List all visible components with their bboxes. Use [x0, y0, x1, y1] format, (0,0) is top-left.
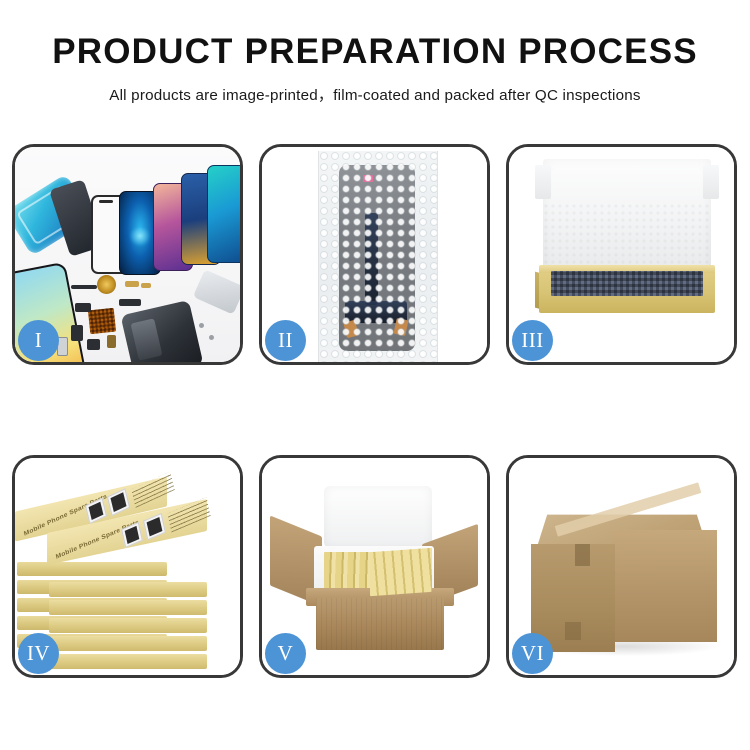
step-panel-3[interactable]: III	[506, 144, 737, 365]
step-badge-2: II	[265, 320, 306, 361]
box-screen-thumbnail	[107, 488, 130, 516]
step-badge-4: IV	[18, 633, 59, 674]
small-part	[141, 283, 151, 288]
page-header: PRODUCT PREPARATION PROCESS All products…	[0, 0, 750, 105]
small-part	[87, 339, 100, 350]
screw-part	[209, 335, 214, 340]
foam-box-lid	[324, 486, 432, 548]
coil-part	[97, 275, 116, 294]
step-panel-2[interactable]: II	[259, 144, 490, 365]
stacked-box-layer	[49, 600, 207, 615]
page-subtitle: All products are image-printed，film-coat…	[0, 83, 750, 105]
carton-right-face	[613, 530, 717, 642]
step-badge-5: V	[265, 633, 306, 674]
chip-grid-part	[88, 308, 116, 335]
bubble-wrap-bag	[318, 151, 438, 362]
screw-part	[199, 323, 204, 328]
phone-teal-swirl	[207, 165, 240, 263]
step-badge-6: VI	[512, 633, 553, 674]
step-panel-4[interactable]: Mobile Phone Spare Parts Mobile Phone Sp…	[12, 455, 243, 678]
stacked-box-layer	[49, 654, 207, 669]
step-badge-1: I	[18, 320, 59, 361]
small-part	[119, 299, 141, 306]
step-panel-1[interactable]: I	[12, 144, 243, 365]
stacked-box-layer	[49, 582, 207, 597]
process-steps-grid: I II III	[12, 144, 738, 678]
stacked-box-layer	[49, 618, 207, 633]
packed-yellow-boxes	[370, 548, 432, 596]
box-screen-thumbnail	[143, 513, 166, 541]
wrapped-contents	[551, 271, 703, 296]
step-badge-3: III	[512, 320, 553, 361]
small-part	[71, 325, 83, 341]
step-panel-5[interactable]: V	[259, 455, 490, 678]
carton-handle-tab	[565, 622, 581, 640]
small-part	[75, 303, 91, 312]
small-part	[107, 335, 116, 348]
bubble-texture	[319, 151, 437, 362]
stacked-box-layer	[49, 636, 207, 651]
stacked-box-layer	[17, 562, 167, 576]
carton-front-face	[316, 598, 444, 650]
small-part	[71, 285, 97, 289]
step-panel-6[interactable]: VI	[506, 455, 737, 678]
small-part	[125, 281, 139, 287]
page-title: PRODUCT PREPARATION PROCESS	[0, 34, 750, 71]
